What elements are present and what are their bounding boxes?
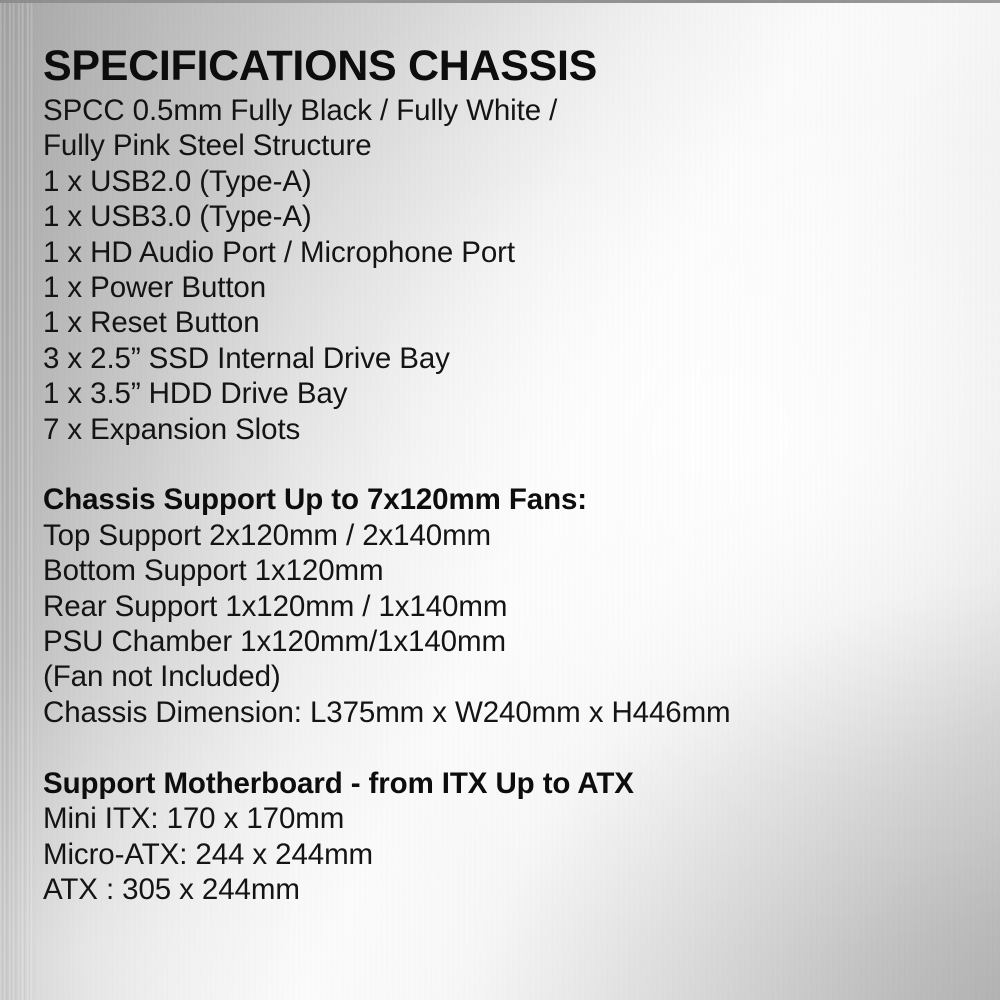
page-title: SPECIFICATIONS CHASSIS — [43, 40, 976, 92]
specification-sheet: SPECIFICATIONS CHASSIS SPCC 0.5mm Fully … — [0, 0, 1000, 1000]
top-divider-rule — [0, 0, 1000, 3]
spec-section-chassis-specs: SPCC 0.5mm Fully Black / Fully White /Fu… — [43, 93, 976, 447]
specification-body: SPCC 0.5mm Fully Black / Fully White /Fu… — [43, 93, 976, 907]
spec-line: Bottom Support 1x120mm — [43, 553, 976, 588]
spec-line: PSU Chamber 1x120mm/1x140mm — [43, 624, 976, 659]
background-left-edge-streaks — [0, 0, 34, 1000]
section-spacer — [43, 730, 976, 765]
spec-section-heading: Support Motherboard - from ITX Up to ATX — [43, 766, 976, 801]
spec-line: 1 x Power Button — [43, 270, 976, 305]
spec-section-heading: Chassis Support Up to 7x120mm Fans: — [43, 482, 976, 517]
spec-line: Micro-ATX: 244 x 244mm — [43, 837, 976, 872]
spec-line: 1 x USB2.0 (Type-A) — [43, 164, 976, 199]
spec-line: ATX : 305 x 244mm — [43, 872, 976, 907]
spec-section-fan-support: Chassis Support Up to 7x120mm Fans:Top S… — [43, 482, 976, 730]
spec-line: Rear Support 1x120mm / 1x140mm — [43, 589, 976, 624]
spec-line: 1 x Reset Button — [43, 305, 976, 340]
spec-line: Chassis Dimension: L375mm x W240mm x H44… — [43, 695, 976, 730]
spec-line: 1 x USB3.0 (Type-A) — [43, 199, 976, 234]
spec-line: 3 x 2.5” SSD Internal Drive Bay — [43, 341, 976, 376]
spec-line: 1 x 3.5” HDD Drive Bay — [43, 376, 976, 411]
spec-line: Top Support 2x120mm / 2x140mm — [43, 518, 976, 553]
spec-line: (Fan not Included) — [43, 659, 976, 694]
spec-section-motherboard-support: Support Motherboard - from ITX Up to ATX… — [43, 766, 976, 908]
specification-content: SPECIFICATIONS CHASSIS SPCC 0.5mm Fully … — [43, 40, 976, 907]
spec-line: SPCC 0.5mm Fully Black / Fully White / — [43, 93, 976, 128]
spec-line: 1 x HD Audio Port / Microphone Port — [43, 235, 976, 270]
section-spacer — [43, 447, 976, 482]
spec-line: Fully Pink Steel Structure — [43, 128, 976, 163]
spec-line: 7 x Expansion Slots — [43, 412, 976, 447]
spec-line: Mini ITX: 170 x 170mm — [43, 801, 976, 836]
